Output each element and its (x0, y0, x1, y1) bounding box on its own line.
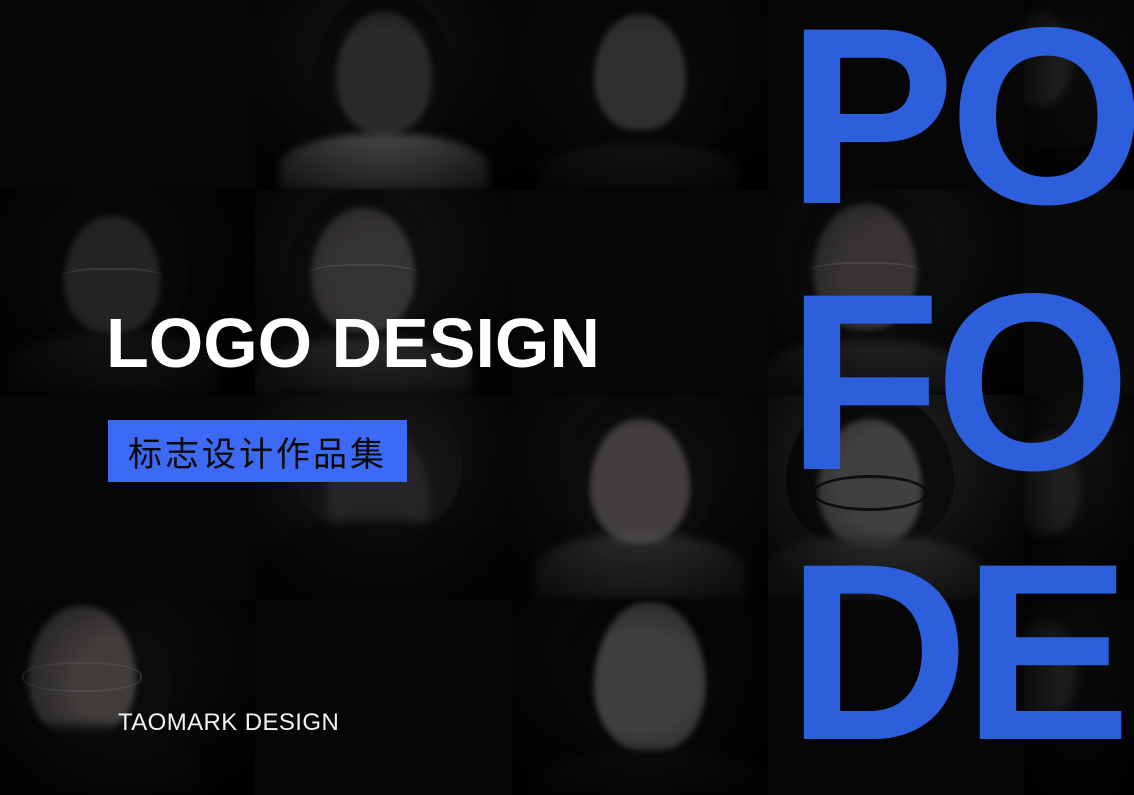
mosaic-tile-r4c2 (255, 600, 512, 795)
mosaic-tile-r3c4 (768, 395, 1024, 600)
mosaic-tile-r1c1 (0, 0, 255, 190)
mosaic-tile-r4c3 (512, 600, 768, 795)
mosaic-tile-r3c3 (512, 395, 768, 600)
darken-overlay (768, 190, 1024, 395)
mosaic-tile-r1c3 (512, 0, 768, 190)
darken-overlay (0, 600, 255, 795)
mosaic-tile-r2c5 (1024, 190, 1134, 395)
poster-canvas: PO FO DE LOGO DESIGN 标志设计作品集 TAOMARK DES… (0, 0, 1134, 795)
darken-overlay (512, 0, 768, 190)
page-title: LOGO DESIGN (106, 308, 600, 378)
mosaic-tile-r2c4 (768, 190, 1024, 395)
mosaic-tile-r3c5 (1024, 395, 1134, 600)
darken-overlay (1024, 0, 1134, 190)
darken-overlay (255, 0, 512, 190)
mosaic-tile-r1c4 (768, 0, 1024, 190)
darken-overlay (512, 600, 768, 795)
darken-overlay (512, 395, 768, 600)
mosaic-tile-r4c5 (1024, 600, 1134, 795)
brand-name: TAOMARK DESIGN (118, 709, 339, 737)
photo-mosaic-grid (0, 0, 1134, 795)
mosaic-tile-r4c1 (0, 600, 255, 795)
darken-overlay (1024, 395, 1134, 600)
mosaic-tile-r4c4 (768, 600, 1024, 795)
mosaic-tile-r1c2 (255, 0, 512, 190)
mosaic-tile-r1c5 (1024, 0, 1134, 190)
darken-overlay (768, 395, 1024, 600)
subtitle-badge: 标志设计作品集 (108, 420, 407, 482)
darken-overlay (1024, 600, 1134, 795)
